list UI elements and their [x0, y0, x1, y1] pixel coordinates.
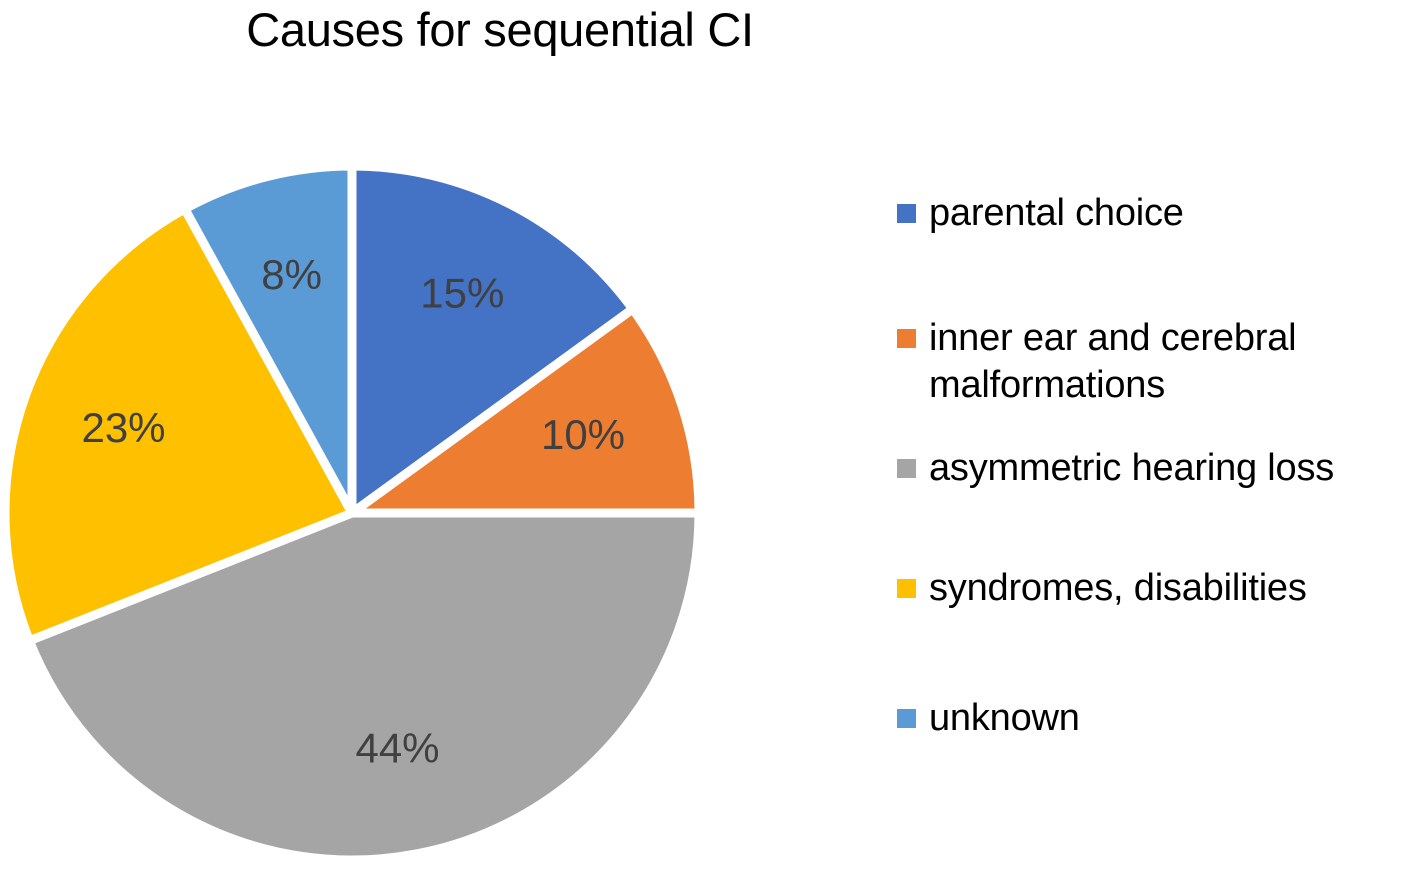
legend-item[interactable]: inner ear and cerebral malformations: [897, 315, 1421, 409]
legend-color-swatch-icon: [897, 329, 916, 348]
pie-chart-canvas: 15%10%44%23%8%: [0, 0, 1421, 875]
legend-item[interactable]: unknown: [897, 695, 1421, 742]
legend-item-label: inner ear and cerebral malformations: [929, 315, 1421, 409]
legend-item[interactable]: syndromes, disabilities: [897, 565, 1421, 612]
pie-slice-value-label: 8%: [261, 251, 322, 298]
pie-slice-value-label: 15%: [420, 270, 504, 317]
legend-color-swatch-icon: [897, 204, 916, 223]
legend-color-swatch-icon: [897, 709, 916, 728]
pie-slice-value-label: 10%: [541, 411, 625, 458]
legend-item[interactable]: asymmetric hearing loss: [897, 445, 1421, 492]
legend-color-swatch-icon: [897, 579, 916, 598]
pie-slice-value-label: 44%: [355, 725, 439, 772]
legend-color-swatch-icon: [897, 459, 916, 478]
legend-item-label: syndromes, disabilities: [929, 565, 1307, 612]
legend-item-label: asymmetric hearing loss: [929, 445, 1334, 492]
pie-slice-group: [5, 166, 699, 860]
legend-item-label: parental choice: [929, 190, 1184, 237]
legend-item-label: unknown: [929, 695, 1080, 742]
pie-chart-figure: Causes for sequential CI 15%10%44%23%8% …: [0, 0, 1421, 875]
pie-slice-value-label: 23%: [81, 404, 165, 451]
legend-item[interactable]: parental choice: [897, 190, 1421, 237]
